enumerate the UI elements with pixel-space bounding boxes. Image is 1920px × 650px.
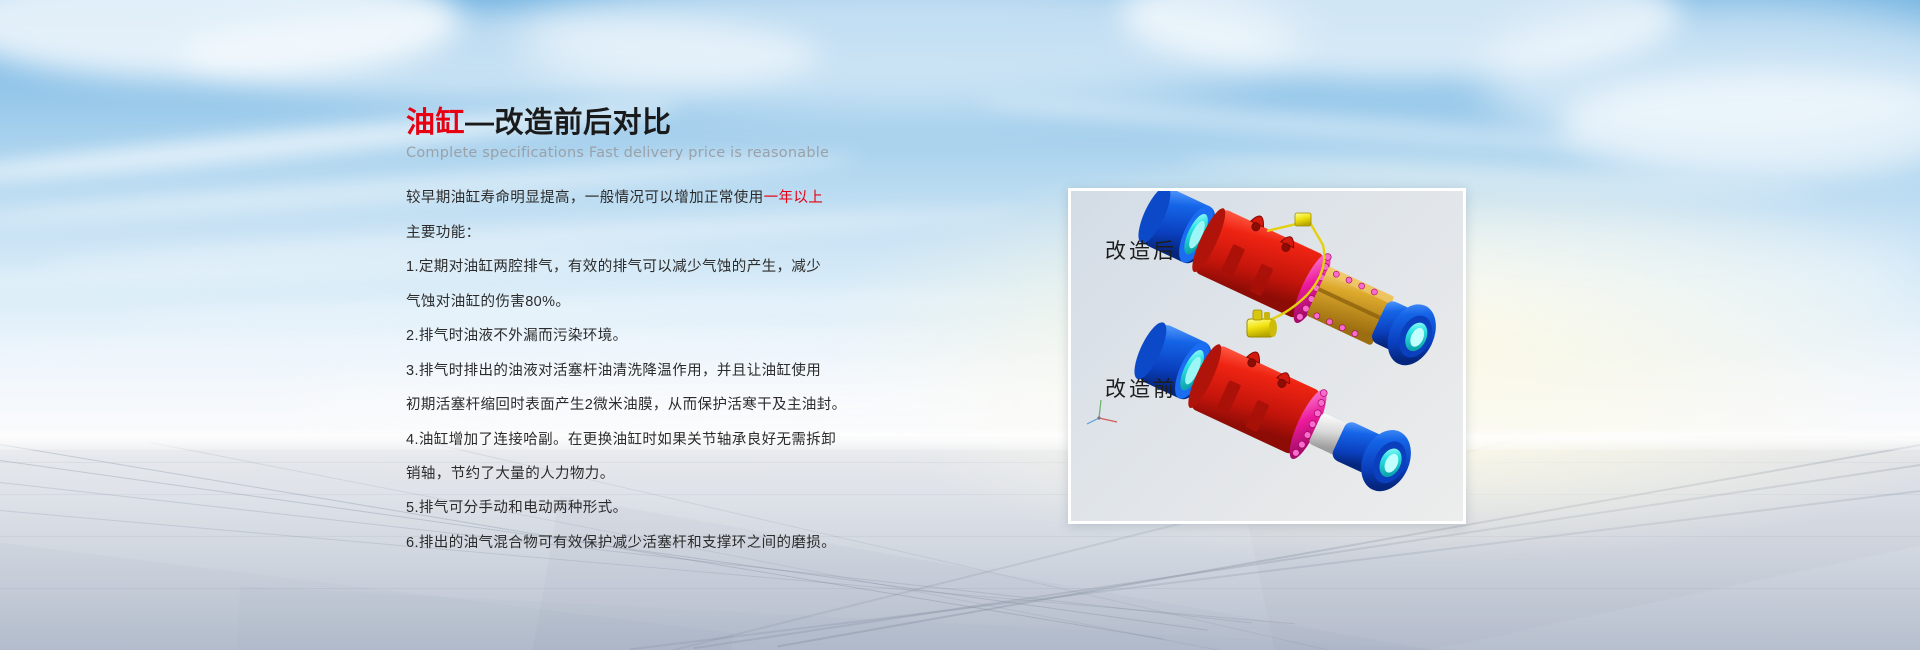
lead-highlight: 一年以上 [764, 190, 824, 206]
page-title-highlight: 油缸 [406, 107, 465, 139]
copy-block: 油缸—改造前后对比 Complete specifications Fast d… [406, 105, 966, 566]
page-title: 油缸—改造前后对比 [406, 105, 966, 141]
feature-item: 2.排气时油液不外漏而污染环境。 [406, 325, 966, 347]
feature-text: 较早期油缸寿命明显提高，一般情况可以增加正常使用一年以上 主要功能： 1.定期对… [406, 187, 966, 554]
feature-item: 1.定期对油缸两腔排气，有效的排气可以减少气蚀的产生，减少 [406, 256, 966, 278]
feature-item: 3.排气时排出的油液对活塞杆油清洗降温作用，并且让油缸使用 [406, 360, 966, 382]
hero-banner: 油缸—改造前后对比 Complete specifications Fast d… [0, 0, 1920, 650]
label-before: 改造前 [1105, 373, 1177, 403]
lead-text: 较早期油缸寿命明显提高，一般情况可以增加正常使用 [406, 190, 764, 206]
lead-paragraph: 较早期油缸寿命明显提高，一般情况可以增加正常使用一年以上 [406, 187, 966, 209]
product-image-panel: 改造后 改造前 [1068, 188, 1466, 524]
feature-item: 6.排出的油气混合物可有效保护减少活塞杆和支撑环之间的磨损。 [406, 532, 966, 554]
feature-item: 4.油缸增加了连接哈副。在更换油缸时如果关节轴承良好无需拆卸 [406, 429, 966, 451]
cad-render: 改造后 改造前 [1071, 191, 1463, 521]
feature-item: 5.排气可分手动和电动两种形式。 [406, 497, 966, 519]
feature-item: 初期活塞杆缩回时表面产生2微米油膜，从而保护活寒干及主油封。 [406, 394, 966, 416]
feature-item: 气蚀对油缸的伤害80%。 [406, 291, 966, 313]
label-after: 改造后 [1105, 235, 1177, 265]
page-title-rest: —改造前后对比 [465, 107, 672, 139]
features-heading: 主要功能： [406, 222, 966, 244]
feature-item: 销轴，节约了大量的人力物力。 [406, 463, 966, 485]
page-subtitle: Complete specifications Fast delivery pr… [406, 145, 966, 161]
